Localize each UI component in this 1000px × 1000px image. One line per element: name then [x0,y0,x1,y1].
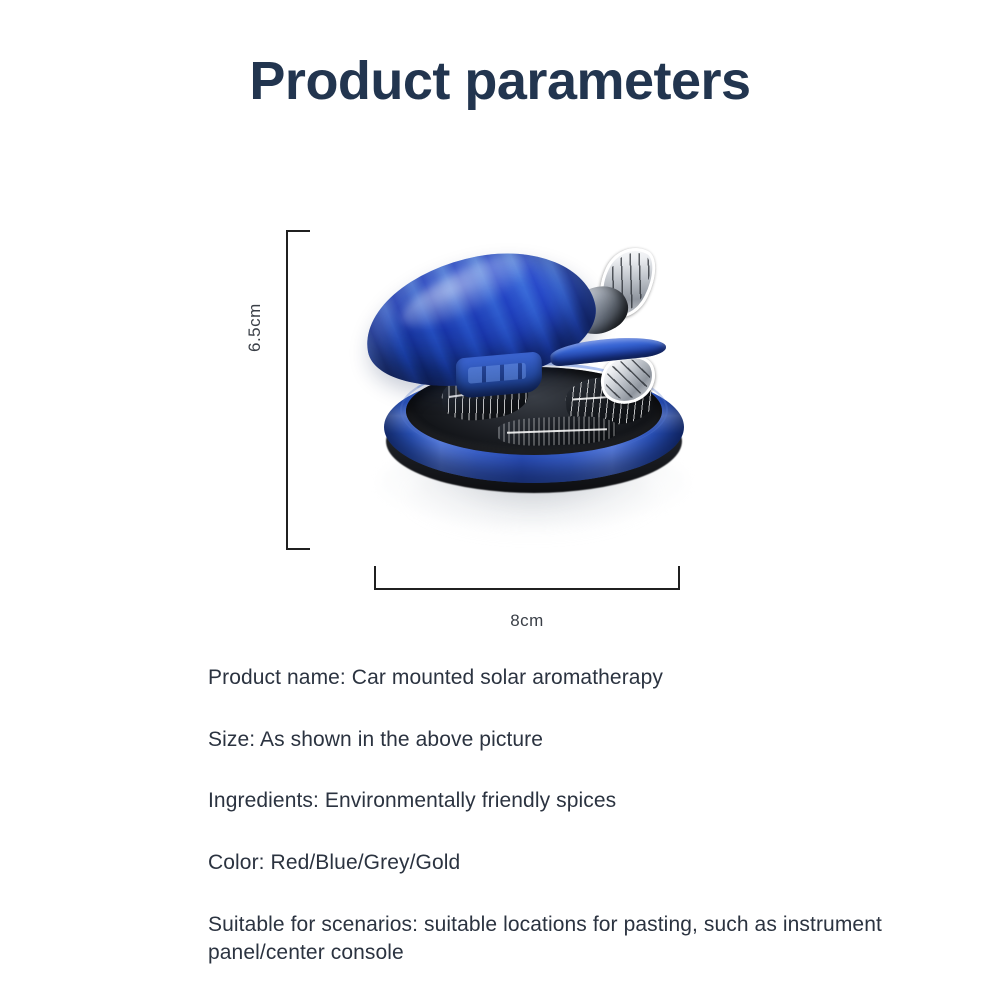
height-dimension-label: 6.5cm [245,303,265,352]
width-dimension-label: 8cm [374,611,680,631]
width-dimension-bracket [374,566,680,590]
spec-line-color: Color: Red/Blue/Grey/Gold [208,849,908,877]
product-image [340,195,730,565]
rotor-mount-block [456,351,542,399]
page-title: Product parameters [0,52,1000,111]
specification-list: Product name: Car mounted solar aromathe… [208,664,908,966]
spec-line-product-name: Product name: Car mounted solar aromathe… [208,664,908,692]
spec-line-ingredients: Ingredients: Environmentally friendly sp… [208,787,908,815]
spec-line-size: Size: As shown in the above picture [208,726,908,754]
diffuser-rotor [364,243,644,413]
product-parameters-page: Product parameters [0,0,1000,1000]
spec-line-scenarios: Suitable for scenarios: suitable locatio… [208,911,908,966]
height-dimension-bracket [286,230,310,550]
